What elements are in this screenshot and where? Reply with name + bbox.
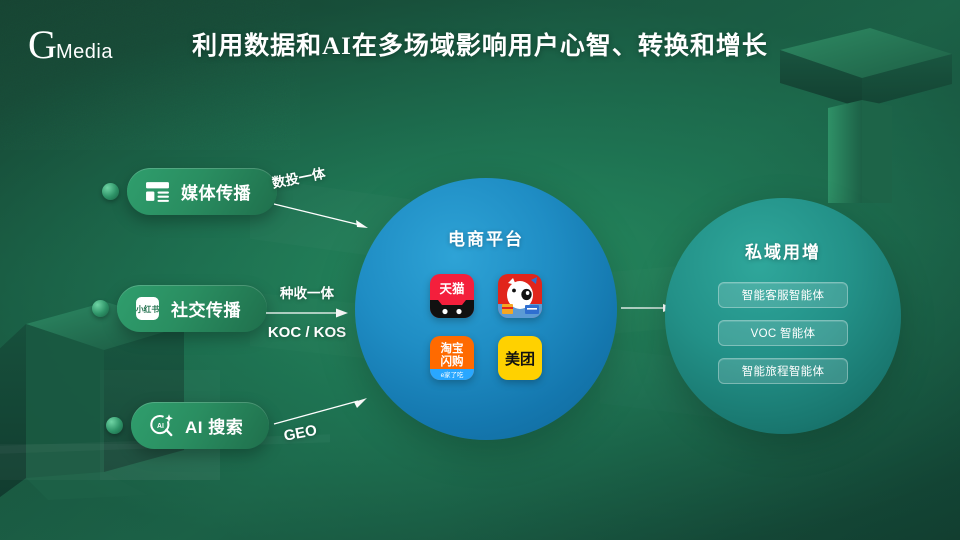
ai-search-sparkle-icon: AI: [149, 413, 174, 438]
channel-label-social: 社交传播: [171, 296, 241, 321]
arrow-right-icon: [264, 305, 350, 321]
channel-label-media: 媒体传播: [181, 179, 251, 204]
bullet-dot-icon: [106, 417, 123, 434]
connector-media: 数投一体: [272, 172, 370, 232]
meituan-icon[interactable]: 美团: [498, 336, 542, 380]
agent-chip-journey[interactable]: 智能旅程智能体: [718, 358, 848, 384]
agent-chip-customer-service[interactable]: 智能客服智能体: [718, 282, 848, 308]
channel-pill-social[interactable]: 小红书 社交传播: [117, 285, 267, 332]
connector-social: 种收一体 KOC / KOS: [264, 282, 350, 341]
svg-text:淘宝: 淘宝: [441, 341, 464, 355]
bullet-dot-icon: [92, 300, 109, 317]
ecommerce-title: 电商平台: [355, 225, 617, 250]
channel-pill-aisearch[interactable]: AI AI 搜索: [131, 402, 269, 449]
tmall-icon[interactable]: 天猫: [430, 274, 474, 318]
connector-aisearch: GEO: [272, 396, 370, 445]
slide-canvas: G Media 利用数据和AI在多场域影响用户心智、转换和增长 媒体传播 数投一…: [0, 0, 960, 540]
svg-text:闪购: 闪购: [441, 354, 464, 368]
xiaohongshu-app-icon: 小红书: [135, 296, 160, 321]
private-domain-title: 私域用增: [665, 238, 901, 263]
agent-chip-voc[interactable]: VOC 智能体: [718, 320, 848, 346]
channel-pill-media[interactable]: 媒体传播: [127, 168, 277, 215]
connector-label-media: 数投一体: [270, 153, 370, 191]
decoration-band-2: [0, 444, 220, 480]
taobao-shangou-icon[interactable]: 淘宝 闪购 e家了吃: [430, 336, 474, 380]
connector-sublabel-social: KOC / KOS: [264, 324, 350, 341]
channel-row-aisearch[interactable]: AI AI 搜索: [106, 402, 269, 449]
agent-chip-list: 智能客服智能体 VOC 智能体 智能旅程智能体: [665, 282, 901, 384]
svg-text:e家了吃: e家了吃: [441, 370, 464, 379]
jd-icon[interactable]: [498, 274, 542, 318]
media-layout-icon: [145, 179, 170, 204]
private-domain-circle[interactable]: 私域用增 智能客服智能体 VOC 智能体 智能旅程智能体: [665, 198, 901, 434]
bullet-dot-icon: [102, 183, 119, 200]
ecommerce-platform-circle[interactable]: 电商平台 天猫: [355, 178, 617, 440]
svg-text:美团: 美团: [505, 350, 535, 368]
channel-label-aisearch: AI 搜索: [185, 413, 243, 438]
channel-row-social[interactable]: 小红书 社交传播: [92, 285, 267, 332]
svg-text:AI: AI: [157, 423, 164, 430]
channel-row-media[interactable]: 媒体传播: [102, 168, 277, 215]
page-title: 利用数据和AI在多场域影响用户心智、转换和增长: [0, 26, 960, 62]
connector-label-social: 种收一体: [264, 282, 350, 302]
ecommerce-brand-grid: 天猫: [355, 274, 617, 380]
svg-text:天猫: 天猫: [439, 281, 465, 296]
svg-text:小红书: 小红书: [135, 304, 159, 314]
